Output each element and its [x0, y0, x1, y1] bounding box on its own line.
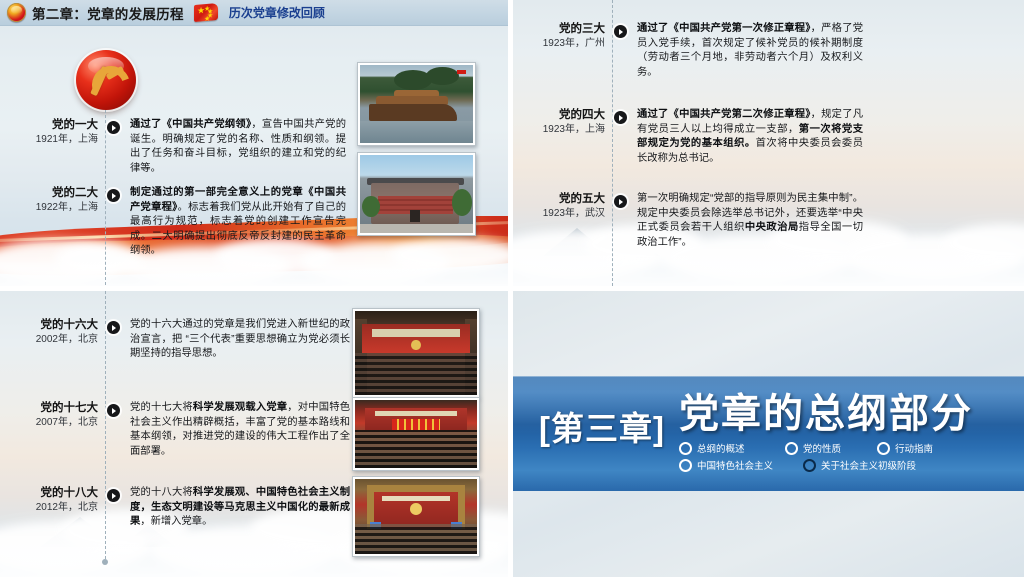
entry-text-rest: 党的十七大将: [130, 402, 193, 413]
entry-date: 2012年，北京: [0, 501, 98, 515]
timeline-row[interactable]: 党的三大 1923年，广州 通过了《中国共产党第一次修正章程》，严格了党员入党手…: [513, 22, 863, 80]
chapter-bullet-label: 行动指南: [895, 441, 933, 455]
national-emblem-icon: [7, 3, 26, 22]
timeline-row[interactable]: 党的四大 1923年，上海 通过了《中国共产党第二次修正章程》，规定了凡有党员三…: [513, 108, 863, 166]
entry-name: 党的二大: [6, 186, 98, 200]
timeline-row[interactable]: 党的一大 1921年，上海 通过了《中国共产党纲领》，宣告中国共产党的诞生。明确…: [6, 118, 346, 176]
entry-date: 1921年，上海: [6, 133, 98, 147]
circle-bullet-icon: [785, 442, 798, 455]
entry-text: 党的十八大将科学发展观、中国特色社会主义制度，生态文明建设等马克思主义中国化的最…: [120, 486, 350, 530]
entry-text-rest: 党的十八大将: [130, 487, 193, 498]
circle-bullet-icon: [877, 442, 890, 455]
chapter-bullet-list: 总纲的概述 党的性质 行动指南: [679, 441, 973, 472]
entry-text-bold2: 科学发展观载入党章: [193, 402, 287, 413]
chapter-bullet-item[interactable]: 行动指南: [877, 441, 933, 455]
timeline-label: 党的十七大 2007年，北京: [0, 401, 107, 430]
slide-bottom-left[interactable]: 党的十六大 2002年，北京 党的十六大通过的党章是我们党进入新世纪的政治宣言，…: [0, 291, 508, 577]
entry-name: 党的四大: [513, 108, 605, 122]
timeline-row[interactable]: 党的二大 1922年，上海 制定通过的第一部完全意义上的党章《中国共产党章程》。…: [6, 186, 346, 259]
circle-bullet-icon: [679, 459, 692, 472]
timeline-label: 党的一大 1921年，上海: [6, 118, 107, 147]
entry-name: 党的三大: [513, 22, 605, 36]
entry-name: 党的十八大: [0, 486, 98, 500]
entry-name: 党的十七大: [0, 401, 98, 415]
chapter-bullet-label: 总纲的概述: [697, 441, 745, 455]
entry-name: 党的五大: [513, 192, 605, 206]
entry-text: 通过了《中国共产党第二次修正章程》，规定了凡有党员三人以上均得成立一支部，第一次…: [627, 108, 863, 166]
chapter-bullet-item[interactable]: 总纲的概述: [679, 441, 785, 455]
page-title: 第二章：党章的发展历程: [32, 3, 184, 23]
nanhu-red-boat-photo[interactable]: [357, 62, 476, 146]
entry-text: 党的十七大将科学发展观载入党章，对中国特色社会主义作出精辟概括，丰富了党的基本路…: [120, 401, 350, 459]
entry-text: 制定通过的第一部完全意义上的党章《中国共产党章程》。标志着我们党从此开始有了自己…: [120, 186, 346, 259]
timeline-row[interactable]: 党的五大 1923年，武汉 第一次明确规定“党部的指导原则为民主集中制”。规定中…: [513, 192, 863, 250]
timeline-label: 党的十八大 2012年，北京: [0, 486, 107, 515]
18th-congress-photo[interactable]: [352, 476, 480, 557]
timeline-label: 党的十六大 2002年，北京: [0, 318, 107, 347]
entry-name: 党的十六大: [0, 318, 98, 332]
chapter-bullet-item[interactable]: 关于社会主义初级阶段: [803, 458, 916, 472]
entry-text-lead: 通过了《中国共产党纲领》: [130, 119, 251, 130]
chapter-title-group: [第三章] 党章的总纲部分 总纲的概述 党的性质: [513, 376, 1024, 491]
entry-date: 2002年，北京: [0, 333, 98, 347]
chapter-title: 党章的总纲部分: [679, 392, 973, 436]
entry-text-rest: 党的十六大通过的党章是我们党进入新世纪的政治宣言，把 “三个代表”重要思想确立为…: [130, 319, 350, 359]
play-circle-icon[interactable]: [107, 189, 120, 202]
entry-text: 党的十六大通过的党章是我们党进入新世纪的政治宣言，把 “三个代表”重要思想确立为…: [120, 318, 350, 362]
play-circle-icon[interactable]: [107, 321, 120, 334]
timeline-row[interactable]: 党的十八大 2012年，北京 党的十八大将科学发展观、中国特色社会主义制度，生态…: [0, 486, 350, 530]
timeline-label: 党的四大 1923年，上海: [513, 108, 614, 137]
chapter-bullet-item[interactable]: 党的性质: [785, 441, 877, 455]
timeline-label: 党的二大 1922年，上海: [6, 186, 107, 215]
circle-bullet-icon: [803, 459, 816, 472]
entry-name: 党的一大: [6, 118, 98, 132]
play-circle-icon[interactable]: [614, 195, 627, 208]
entry-date: 1922年，上海: [6, 201, 98, 215]
chapter-bullet-label: 中国特色社会主义: [697, 458, 773, 472]
play-circle-icon[interactable]: [107, 489, 120, 502]
chapter-bullet-item[interactable]: 中国特色社会主义: [679, 458, 803, 472]
play-circle-icon[interactable]: [107, 404, 120, 417]
entry-date: 1923年，武汉: [513, 207, 605, 221]
timeline-label: 党的五大 1923年，武汉: [513, 192, 614, 221]
play-circle-icon[interactable]: [107, 121, 120, 134]
timeline-label: 党的三大 1923年，广州: [513, 22, 614, 51]
entry-text-lead: 通过了《中国共产党第二次修正章程》: [637, 109, 811, 120]
erda-site-photo[interactable]: [357, 152, 476, 236]
entry-text-rest2: ，新增入党章。: [140, 516, 212, 527]
circle-bullet-icon: [679, 442, 692, 455]
chapter-bullet-label: 关于社会主义初级阶段: [821, 458, 916, 472]
entry-text-lead: 通过了《中国共产党第一次修正章程》: [637, 23, 811, 34]
entry-text-bold2: 中央政治局: [745, 222, 799, 233]
chapter-bullet-label: 党的性质: [803, 441, 841, 455]
timeline-row[interactable]: 党的十七大 2007年，北京 党的十七大将科学发展观载入党章，对中国特色社会主义…: [0, 401, 350, 459]
entry-text: 通过了《中国共产党第一次修正章程》，严格了党员入党手续，首次规定了候补党员的候补…: [627, 22, 863, 80]
entry-text: 通过了《中国共产党纲领》，宣告中国共产党的诞生。明确规定了党的名称、性质和纲领。…: [120, 118, 346, 176]
entry-date: 1923年，上海: [513, 123, 605, 137]
16th-congress-photo[interactable]: [352, 308, 480, 398]
slide-bottom-right[interactable]: [第三章] 党章的总纲部分 总纲的概述 党的性质: [513, 291, 1024, 577]
entry-text: 第一次明确规定“党部的指导原则为民主集中制”。规定中央委员会除选举总书记外，还要…: [627, 192, 863, 250]
chapter-bullet-row: 总纲的概述 党的性质 行动指南: [679, 441, 973, 455]
timeline-row[interactable]: 党的十六大 2002年，北京 党的十六大通过的党章是我们党进入新世纪的政治宣言，…: [0, 318, 350, 362]
slide-deck: 第二章：党章的发展历程 ★★★ ★★ 历次党章修改回顾 党的一大 1921年，上…: [0, 0, 1024, 577]
entry-date: 1923年，广州: [513, 37, 605, 51]
chapter-bullet-row: 中国特色社会主义 关于社会主义初级阶段: [679, 458, 973, 472]
timeline-end-dot: [102, 559, 108, 565]
chapter-number: [第三章]: [539, 402, 665, 450]
china-flag-icon: ★★★ ★★: [194, 3, 218, 22]
slide-header-bar: 第二章：党章的发展历程 ★★★ ★★ 历次党章修改回顾: [0, 0, 508, 26]
slide-top-left[interactable]: 第二章：党章的发展历程 ★★★ ★★ 历次党章修改回顾 党的一大 1921年，上…: [0, 0, 508, 286]
play-circle-icon[interactable]: [614, 25, 627, 38]
party-emblem-hammer-sickle-icon: [76, 50, 136, 110]
header-subtitle: 历次党章修改回顾: [229, 4, 325, 21]
17th-congress-photo[interactable]: [352, 397, 480, 471]
play-circle-icon[interactable]: [614, 111, 627, 124]
slide-top-right[interactable]: 党的三大 1923年，广州 通过了《中国共产党第一次修正章程》，严格了党员入党手…: [513, 0, 1024, 286]
entry-date: 2007年，北京: [0, 416, 98, 430]
